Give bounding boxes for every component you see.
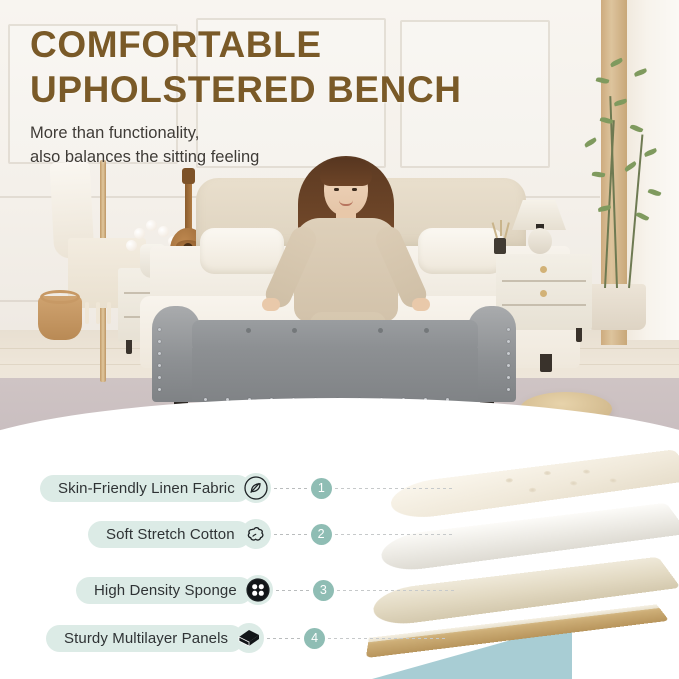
feature-row-3[interactable]: High Density Sponge 3 bbox=[76, 575, 457, 605]
bed-leg bbox=[540, 354, 552, 372]
nightstand-leg bbox=[576, 328, 582, 342]
planter bbox=[586, 284, 646, 330]
subtitle-line-2: also balances the sitting feeling bbox=[30, 146, 462, 170]
connector-dots-long-2 bbox=[335, 534, 455, 535]
headline-block: COMFORTABLE UPHOLSTERED BENCH More than … bbox=[30, 22, 462, 170]
bench-body bbox=[192, 348, 478, 402]
feature-row-2[interactable]: Soft Stretch Cotton 2 bbox=[88, 519, 455, 549]
feature-number-3: 3 bbox=[313, 580, 334, 601]
connector-dots-long-4 bbox=[328, 638, 448, 639]
feature-list: Skin-Friendly Linen Fabric 1 Soft Stretc… bbox=[0, 455, 400, 679]
basket-rim bbox=[40, 290, 80, 304]
product-infographic: COMFORTABLE UPHOLSTERED BENCH More than … bbox=[0, 0, 679, 679]
feature-number-4: 4 bbox=[304, 628, 325, 649]
feature-row-1[interactable]: Skin-Friendly Linen Fabric 1 bbox=[40, 473, 455, 503]
features-panel: Skin-Friendly Linen Fabric 1 Soft Stretc… bbox=[0, 455, 679, 679]
cotton-boll-icon bbox=[241, 519, 271, 549]
connector-dots-long-3 bbox=[337, 590, 457, 591]
feature-number-2: 2 bbox=[311, 524, 332, 545]
pillow bbox=[200, 228, 284, 274]
feature-label-3: High Density Sponge bbox=[76, 577, 253, 604]
feature-number-1: 1 bbox=[311, 478, 332, 499]
connector-dots-2 bbox=[274, 534, 308, 535]
leaf-icon bbox=[241, 473, 271, 503]
connector-dots-1 bbox=[274, 488, 308, 489]
headline-line-2: UPHOLSTERED BENCH bbox=[30, 67, 462, 112]
subtitle-line-1: More than functionality, bbox=[30, 122, 462, 146]
pillow bbox=[418, 228, 504, 274]
connector-dots-long-1 bbox=[335, 488, 455, 489]
feature-row-4[interactable]: Sturdy Multilayer Panels 4 bbox=[46, 623, 448, 653]
connector-dots-3 bbox=[276, 590, 310, 591]
reed-diffuser bbox=[494, 238, 506, 254]
headline-line-1: COMFORTABLE bbox=[30, 22, 462, 67]
feature-label-2: Soft Stretch Cotton bbox=[88, 521, 251, 548]
ukulele-headstock bbox=[182, 168, 195, 184]
feature-label-1: Skin-Friendly Linen Fabric bbox=[40, 475, 251, 502]
nightstand-leg bbox=[126, 340, 132, 354]
table-lamp-base bbox=[528, 228, 552, 254]
feature-label-4: Sturdy Multilayer Panels bbox=[46, 625, 244, 652]
panel-block-icon bbox=[234, 623, 264, 653]
subtitle-block: More than functionality, also balances t… bbox=[30, 122, 462, 170]
ukulele-neck bbox=[185, 180, 192, 232]
sponge-cells-icon bbox=[243, 575, 273, 605]
connector-dots-4 bbox=[267, 638, 301, 639]
